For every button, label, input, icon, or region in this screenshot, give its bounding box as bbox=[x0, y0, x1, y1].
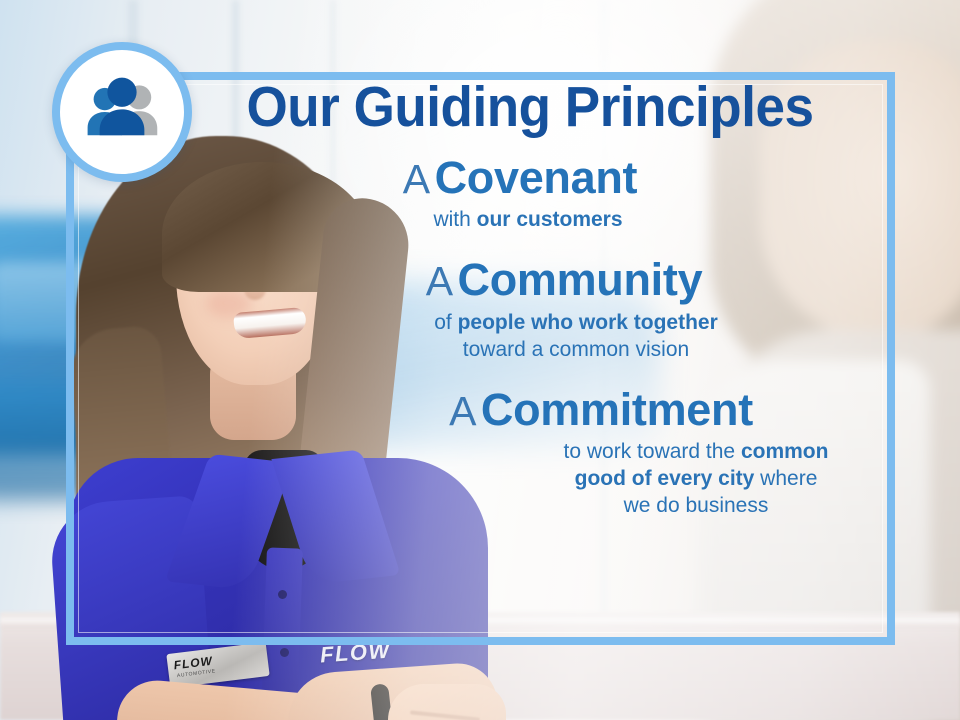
principle-community: A Community of people who work together … bbox=[248, 256, 880, 363]
subtext-plain: where bbox=[754, 467, 817, 490]
subtext-bold: common bbox=[741, 440, 829, 463]
subtext-bold: our customers bbox=[477, 208, 623, 231]
principle-word: Commitment bbox=[481, 384, 753, 435]
principles-content: Our Guiding Principles A Covenant with o… bbox=[180, 78, 880, 526]
principle-covenant: A Covenant with our customers bbox=[160, 154, 880, 234]
subtext-plain: of bbox=[434, 311, 457, 334]
guiding-principles-banner: FLOW AUTOMOTIVE FLOW bbox=[0, 0, 960, 720]
subtext-line: toward a common vision bbox=[272, 337, 880, 364]
principle-subtext: of people who work together toward a com… bbox=[272, 310, 880, 364]
page-title: Our Guiding Principles bbox=[205, 78, 856, 138]
subtext-bold: good of every city bbox=[575, 467, 755, 490]
people-group-icon bbox=[79, 69, 165, 155]
principle-word: Covenant bbox=[435, 152, 638, 203]
principle-commitment: A Commitment to work toward the common g… bbox=[322, 386, 880, 520]
principle-article: A bbox=[426, 258, 453, 304]
principle-subtext: with our customers bbox=[176, 207, 880, 234]
principle-heading: A Community bbox=[248, 256, 880, 305]
principle-heading: A Commitment bbox=[322, 386, 880, 435]
subtext-line: we do business bbox=[516, 493, 876, 520]
subtext-bold: people who work together bbox=[458, 311, 718, 334]
principle-subtext: to work toward the common good of every … bbox=[516, 439, 876, 520]
principle-article: A bbox=[449, 388, 476, 434]
principle-article: A bbox=[403, 156, 430, 202]
subtext-line: of people who work together bbox=[272, 310, 880, 337]
principle-heading: A Covenant bbox=[160, 154, 880, 203]
subtext-line: to work toward the common bbox=[516, 439, 876, 466]
principle-word: Community bbox=[458, 254, 703, 305]
principles-list: A Covenant with our customers A Communit… bbox=[180, 154, 880, 520]
subtext-line: good of every city where bbox=[516, 466, 876, 493]
subtext-plain: with bbox=[433, 208, 476, 231]
subtext-plain: to work toward the bbox=[564, 440, 741, 463]
